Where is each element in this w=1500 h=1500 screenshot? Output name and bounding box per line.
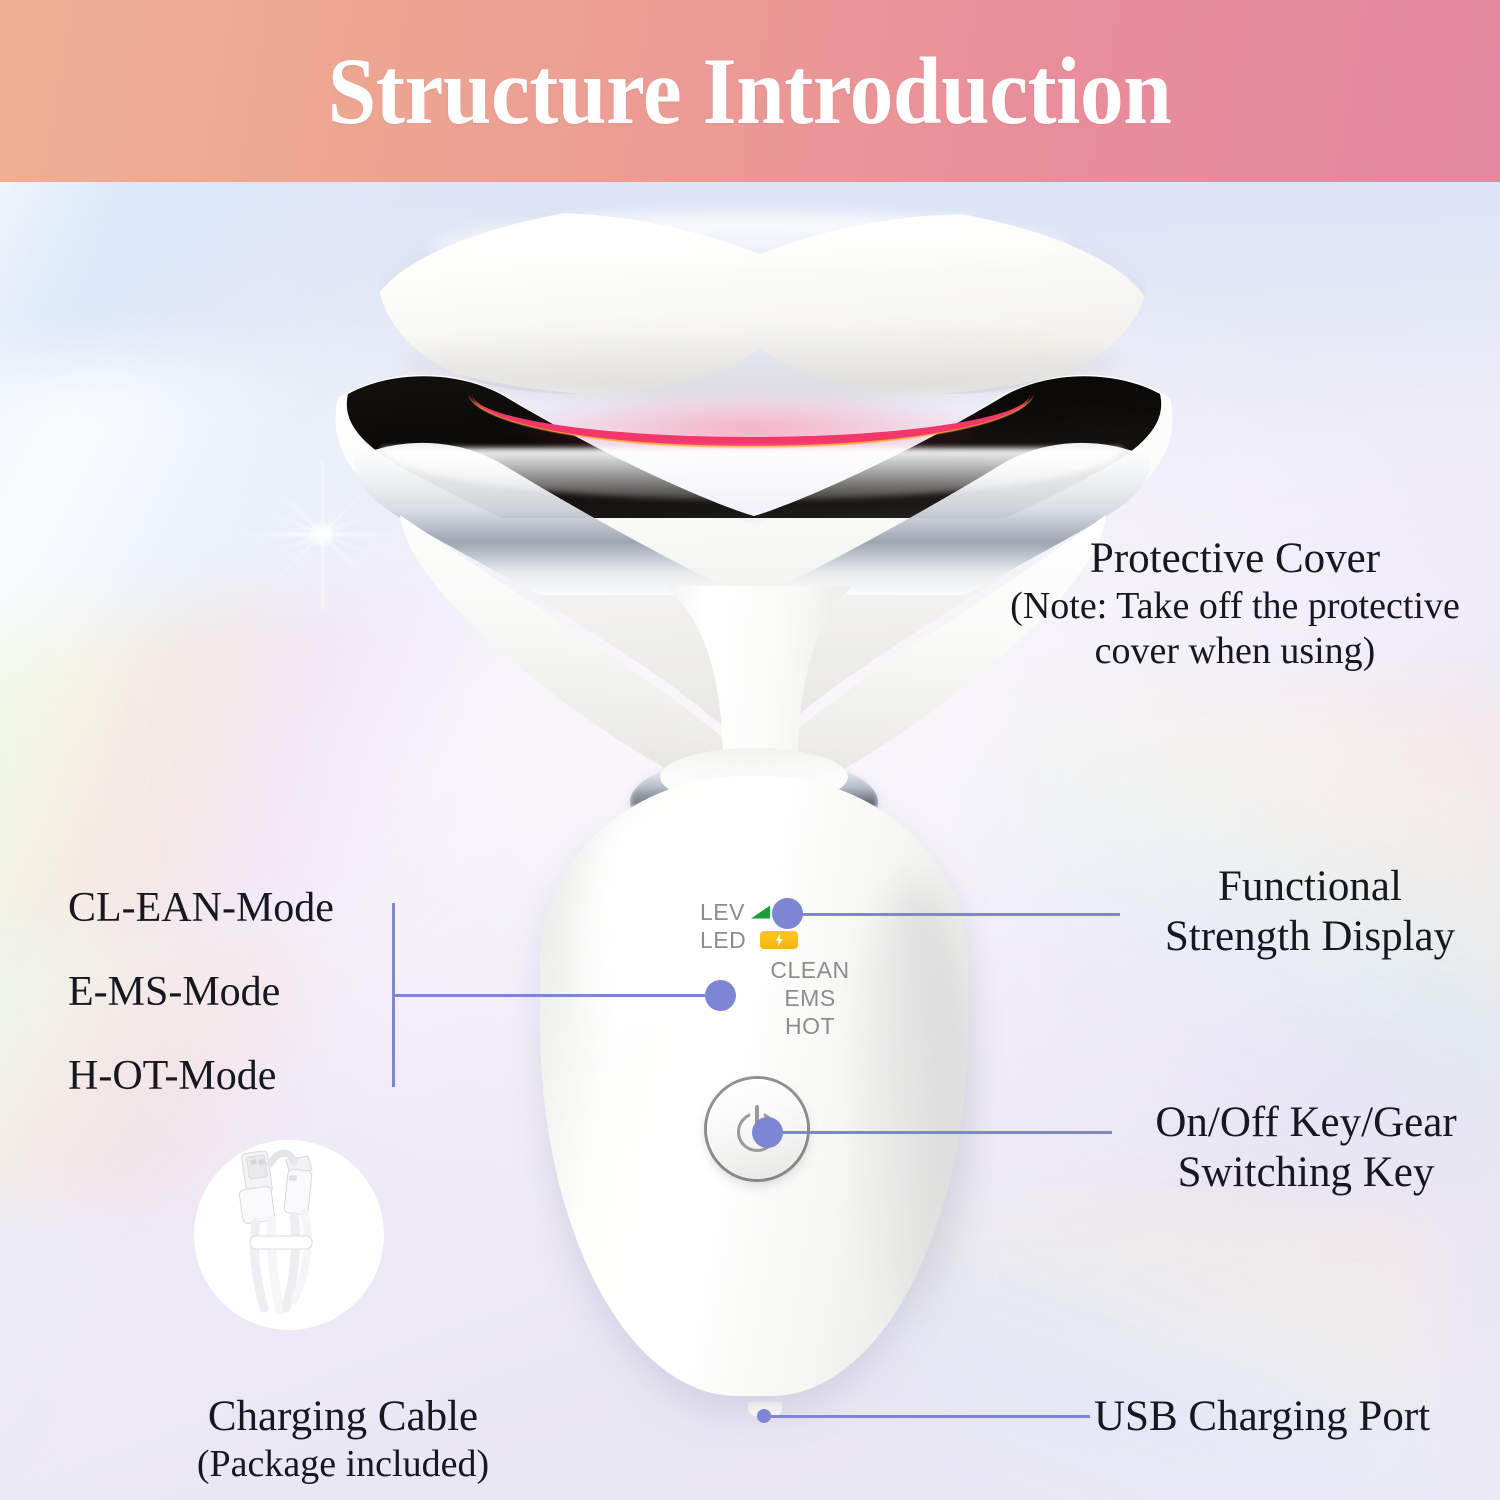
display-label-lev: LEV bbox=[700, 901, 745, 924]
charging-cable-note: (Package included) bbox=[148, 1442, 538, 1486]
header-banner: Structure Introduction bbox=[0, 0, 1500, 182]
protective-cover-note-2: cover when using) bbox=[985, 629, 1485, 673]
leader-line-usb-port bbox=[765, 1415, 1090, 1418]
annotation-on-off-key: On/Off Key/Gear Switching Key bbox=[1112, 1098, 1500, 1199]
infographic-page: Structure Introduction bbox=[0, 0, 1500, 1500]
leader-dot-usb-port bbox=[757, 1409, 771, 1423]
annotation-mode-hot: H-OT-Mode bbox=[68, 1052, 276, 1101]
leader-line-modes bbox=[392, 994, 722, 997]
signal-bars-icon-small bbox=[751, 906, 770, 919]
handle-highlight bbox=[582, 812, 698, 1142]
mode-label-clean: CL-EAN-Mode bbox=[68, 884, 334, 933]
usb-charging-port-label: USB Charging Port bbox=[1094, 1392, 1500, 1442]
page-title: Structure Introduction bbox=[328, 44, 1172, 139]
display-row-led: LED bbox=[700, 926, 920, 954]
functional-display-line-1: Functional bbox=[1120, 862, 1500, 912]
protective-cover-title: Protective Cover bbox=[985, 534, 1485, 584]
display-row-lev: LEV bbox=[700, 898, 920, 926]
onoff-key-line-2: Switching Key bbox=[1112, 1148, 1500, 1198]
annotation-functional-strength-display: Functional Strength Display bbox=[1120, 862, 1500, 963]
charging-cable-image bbox=[194, 1140, 384, 1330]
onoff-key-line-1: On/Off Key/Gear bbox=[1112, 1098, 1500, 1148]
annotation-protective-cover: Protective Cover (Note: Take off the pro… bbox=[985, 534, 1485, 673]
leader-dot-onoff-key bbox=[752, 1117, 783, 1148]
leader-dot-functional-display bbox=[772, 898, 803, 929]
display-label-led: LED bbox=[700, 929, 746, 952]
functional-display-line-2: Strength Display bbox=[1120, 912, 1500, 962]
annotation-mode-clean: CL-EAN-Mode bbox=[68, 884, 334, 933]
annotation-mode-ems: E-MS-Mode bbox=[68, 968, 280, 1017]
charging-cable-icon bbox=[194, 1140, 384, 1330]
leader-dot-modes bbox=[705, 980, 736, 1011]
annotation-usb-charging-port: USB Charging Port bbox=[1094, 1392, 1500, 1442]
mode-label-hot: H-OT-Mode bbox=[68, 1052, 276, 1101]
display-label-clean: CLEAN bbox=[700, 956, 920, 984]
functional-strength-display-panel: LEV LED CLEAN EMS HOT bbox=[700, 898, 920, 1038]
annotation-charging-cable: Charging Cable (Package included) bbox=[148, 1392, 538, 1487]
protective-cover-highlight bbox=[430, 214, 1070, 280]
protective-cover-note-1: (Note: Take off the protective bbox=[985, 584, 1485, 628]
leader-line-onoff-key bbox=[772, 1131, 1112, 1134]
charging-cable-title: Charging Cable bbox=[148, 1392, 538, 1442]
mode-label-ems: E-MS-Mode bbox=[68, 968, 280, 1017]
lightning-bolt-badge-icon bbox=[760, 931, 798, 949]
display-label-hot: HOT bbox=[700, 1012, 920, 1040]
leader-line-functional-display bbox=[793, 913, 1120, 916]
